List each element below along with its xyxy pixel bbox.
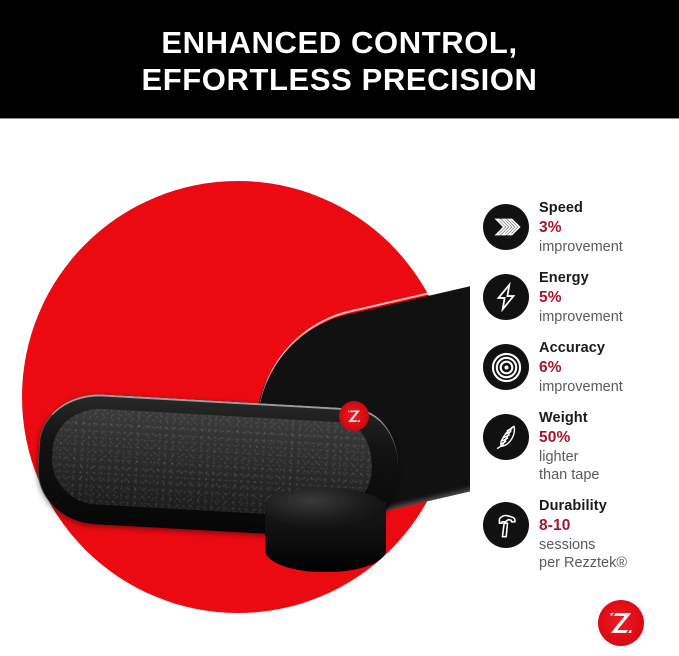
feature-item-accuracy: Accuracy 6% improvement <box>483 338 679 396</box>
product-image <box>0 119 470 656</box>
feature-item-energy: Energy 5% improvement <box>483 268 679 326</box>
header-banner: ENHANCED CONTROL, EFFORTLESS PRECISION <box>0 0 679 118</box>
feature-description: sessions per Rezztek® <box>539 536 627 572</box>
feature-title: Speed <box>539 199 623 218</box>
feature-value: 6% <box>539 358 623 378</box>
feature-description: improvement <box>539 238 623 256</box>
feature-title: Durability <box>539 497 627 516</box>
feature-item-weight: Weight 50% lighter than tape <box>483 408 679 484</box>
feature-title: Accuracy <box>539 339 623 358</box>
chevrons-right-icon <box>483 204 529 250</box>
feature-value: 5% <box>539 288 623 308</box>
feature-description: improvement <box>539 378 623 396</box>
feature-item-durability: Durability 8-10 sessions per Rezztek® <box>483 496 679 572</box>
feature-list: Speed 3% improvement Energy 5% improveme… <box>483 198 679 584</box>
feature-text-weight: Weight 50% lighter than tape <box>539 408 599 484</box>
lightning-bolt-icon <box>483 274 529 320</box>
hockey-stick-blade <box>0 119 470 656</box>
feature-description: improvement <box>539 308 623 326</box>
z-monogram-icon <box>339 401 369 431</box>
feature-title: Weight <box>539 409 599 428</box>
hockey-puck-top <box>265 488 386 528</box>
page-title-line-1: ENHANCED CONTROL, <box>161 24 517 61</box>
target-bullseye-icon <box>483 344 529 390</box>
feature-description: lighter than tape <box>539 448 599 484</box>
feature-value: 3% <box>539 218 623 238</box>
feature-title: Energy <box>539 269 623 288</box>
feature-item-speed: Speed 3% improvement <box>483 198 679 256</box>
hammer-icon <box>483 502 529 548</box>
feature-value: 50% <box>539 428 599 448</box>
page-title-line-2: EFFORTLESS PRECISION <box>141 61 537 98</box>
feather-icon <box>483 414 529 460</box>
brand-logo <box>598 600 644 646</box>
feature-value: 8-10 <box>539 516 627 536</box>
feature-text-speed: Speed 3% improvement <box>539 198 623 256</box>
feature-text-accuracy: Accuracy 6% improvement <box>539 338 623 396</box>
feature-text-energy: Energy 5% improvement <box>539 268 623 326</box>
feature-text-durability: Durability 8-10 sessions per Rezztek® <box>539 496 627 572</box>
